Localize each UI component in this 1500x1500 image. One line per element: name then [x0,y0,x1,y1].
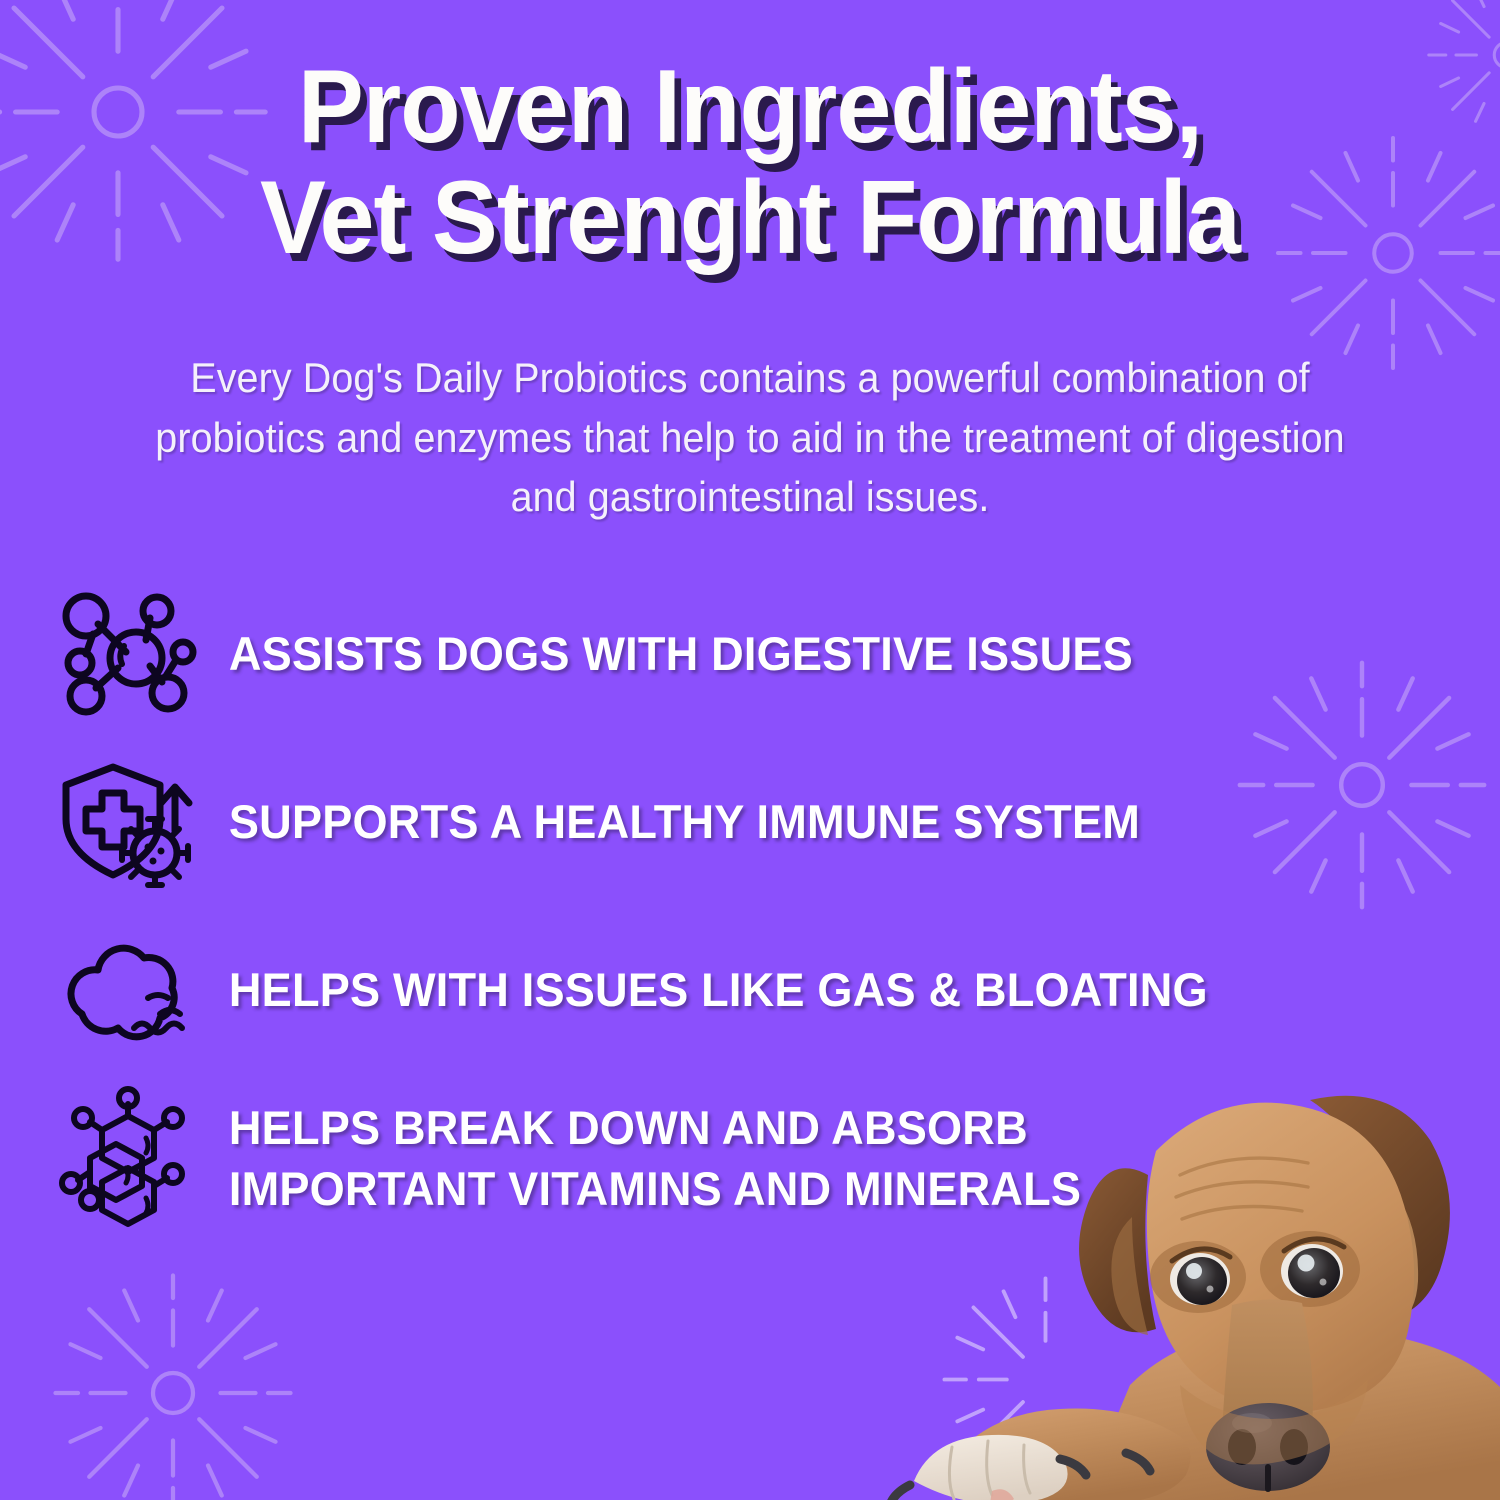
benefit-label: SUPPORTS A HEALTHY IMMUNE SYSTEM [202,791,1258,852]
page-title: Proven Ingredients, Vet Strenght Formula [38,52,1463,275]
product-benefits-infographic: Proven Ingredients, Vet Strenght Formula… [0,0,1500,1500]
benefit-item-immune: SUPPORTS A HEALTHY IMMUNE SYSTEM [52,746,1302,898]
benefit-label: ASSISTS DOGS WITH DIGESTIVE ISSUES [202,623,1258,684]
benefit-item-digestive: ASSISTS DOGS WITH DIGESTIVE ISSUES [52,578,1302,730]
starburst-decoration-bottom-left [48,1268,298,1500]
starburst-decoration-bottom-center [938,1272,1153,1487]
gas-cloud-icon [52,924,202,1056]
intro-paragraph: Every Dog's Daily Probiotics contains a … [153,348,1347,527]
benefit-item-vitamins: HELPS BREAK DOWN AND ABSORB IMPORTANT VI… [52,1082,1302,1234]
benefit-label: HELPS BREAK DOWN AND ABSORB IMPORTANT VI… [202,1097,1258,1219]
benefit-item-gas-bloating: HELPS WITH ISSUES LIKE GAS & BLOATING [52,914,1302,1066]
benefit-label: HELPS WITH ISSUES LIKE GAS & BLOATING [202,959,1258,1020]
molecule-network-icon [52,588,202,720]
shield-immune-icon [52,756,202,888]
chemical-structure-icon [52,1092,202,1224]
benefits-list: ASSISTS DOGS WITH DIGESTIVE ISSUES [52,578,1302,1234]
